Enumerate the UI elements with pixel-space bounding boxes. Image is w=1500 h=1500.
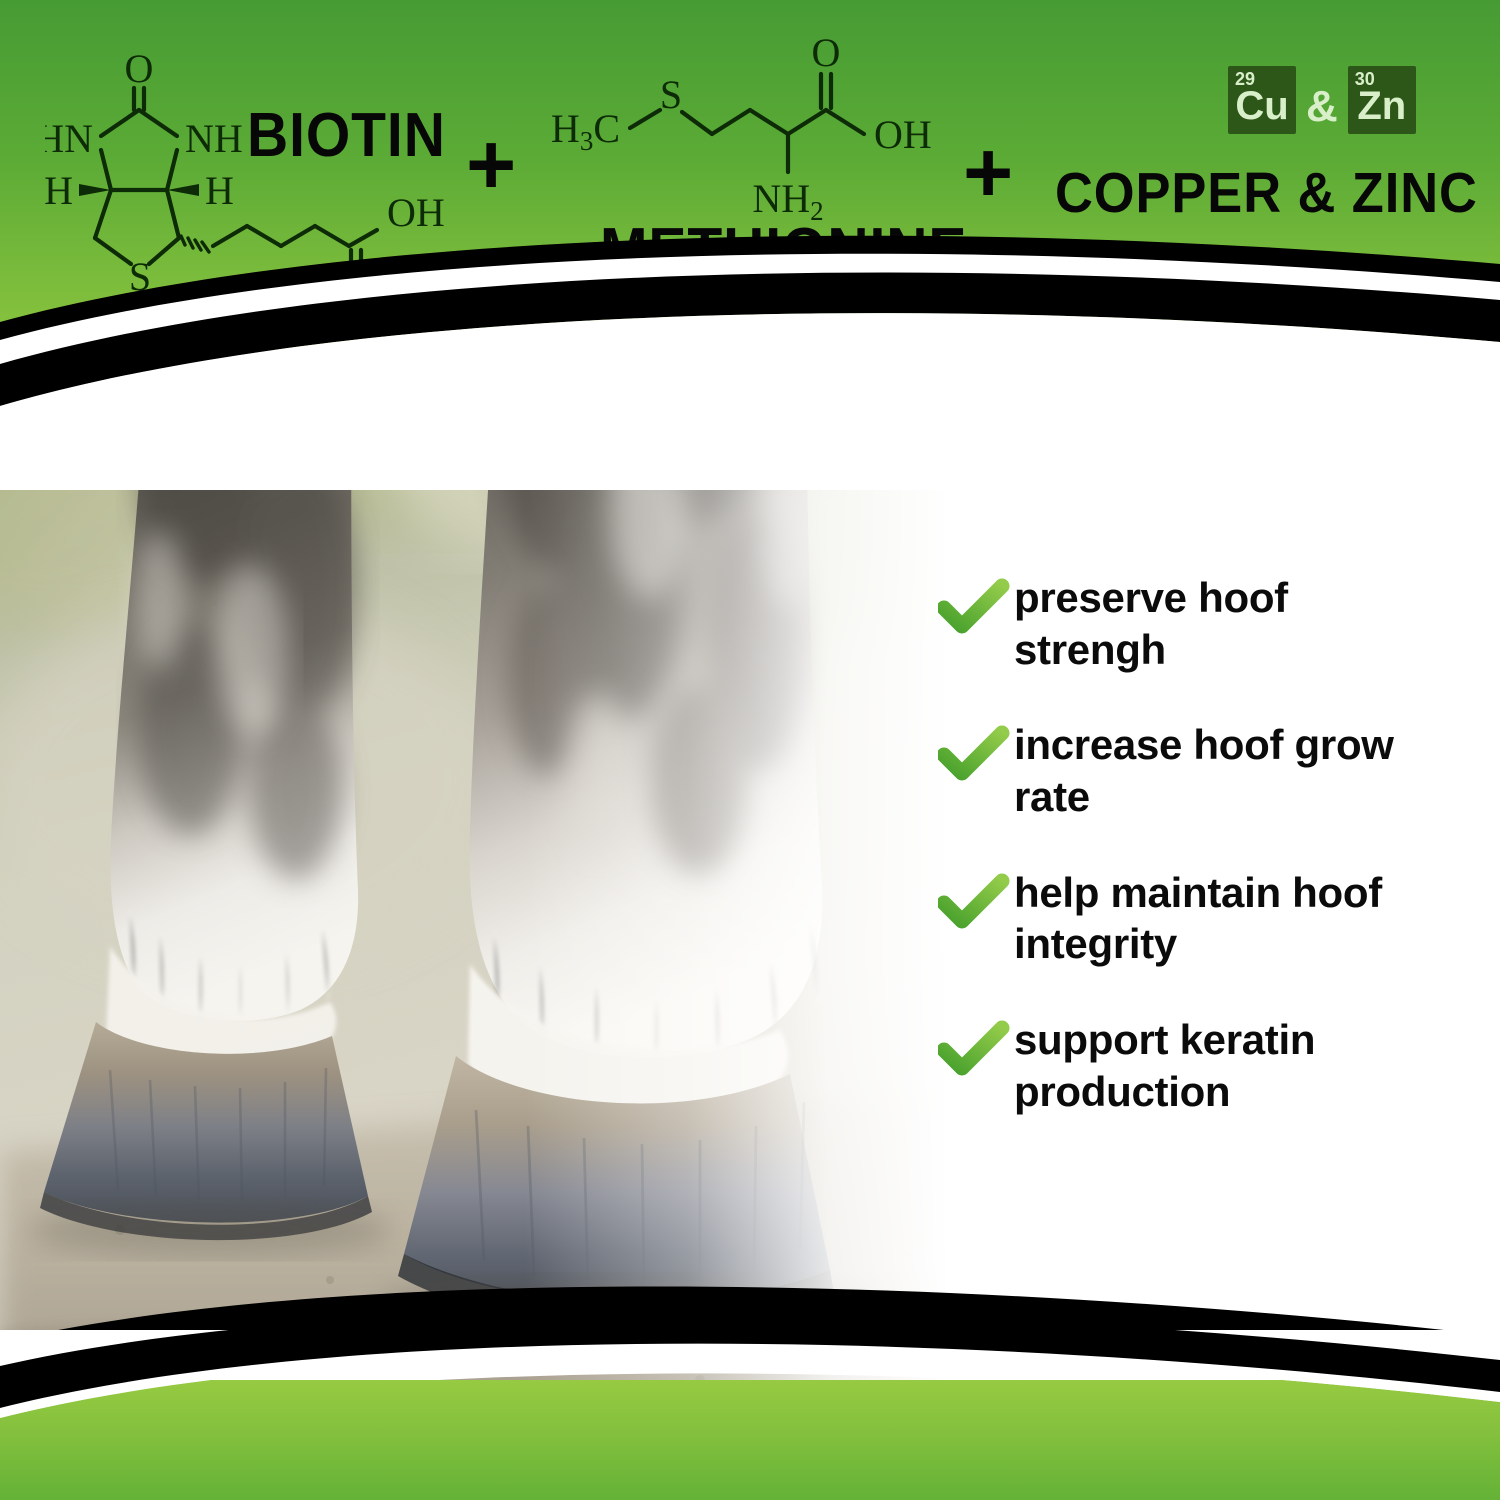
- benefit-label: preserve hoof strengh: [1014, 572, 1444, 675]
- biotin-atom-H-right: H: [205, 168, 234, 213]
- benefit-item-1: preserve hoof strengh: [938, 572, 1478, 675]
- horse-hooves-illustration: [0, 350, 1010, 1410]
- element-tile-zinc: 30 Zn: [1348, 66, 1416, 134]
- check-icon: [938, 867, 1014, 936]
- periodic-tiles-group: 29 Cu & 30 Zn: [1228, 66, 1416, 134]
- biotin-atom-O-bottom: O: [342, 266, 371, 300]
- header-section: O HN NH H H S OH O BIOTIN +: [0, 0, 1500, 400]
- benefit-item-3: help maintain hoof integrity: [938, 867, 1478, 970]
- methionine-atom-S: S: [660, 72, 682, 117]
- biotin-atom-OH: OH: [387, 190, 445, 235]
- check-icon: [938, 1014, 1014, 1083]
- biotin-atom-S: S: [129, 254, 151, 299]
- biotin-atom-O-top: O: [125, 46, 154, 91]
- methionine-atom-O: O: [812, 30, 841, 75]
- footer-green-band: [0, 1380, 1500, 1500]
- benefit-label: support keratin production: [1014, 1014, 1444, 1117]
- product-infographic: O HN NH H H S OH O BIOTIN +: [0, 0, 1500, 1500]
- benefit-label: increase hoof grow rate: [1014, 719, 1444, 822]
- methionine-atom-OH: OH: [874, 112, 932, 157]
- biotin-atom-H-left: H: [45, 168, 73, 213]
- methionine-atom-H3C: H3C: [551, 106, 620, 156]
- ampersand-symbol: &: [1300, 85, 1344, 129]
- benefits-list: preserve hoof strengh increase hoof grow…: [938, 572, 1478, 1117]
- methionine-label: METHIONINE: [600, 215, 967, 286]
- check-icon: [938, 719, 1014, 788]
- benefit-label: help maintain hoof integrity: [1014, 867, 1444, 970]
- element-tile-copper: 29 Cu: [1228, 66, 1296, 134]
- check-icon: [938, 572, 1014, 641]
- methionine-structure-icon: H3C S O OH NH2: [548, 30, 968, 240]
- copper-symbol: Cu: [1228, 86, 1296, 126]
- hoof-photo: [0, 350, 1010, 1410]
- biotin-atom-NH: NH: [185, 116, 243, 161]
- plus-sign-1: +: [466, 122, 516, 208]
- ingredient-row: O HN NH H H S OH O BIOTIN +: [0, 0, 1500, 330]
- plus-sign-2: +: [963, 130, 1013, 216]
- benefit-item-4: support keratin production: [938, 1014, 1478, 1117]
- benefit-item-2: increase hoof grow rate: [938, 719, 1478, 822]
- biotin-label: BIOTIN: [247, 100, 446, 171]
- copper-zinc-label: COPPER & ZINC: [1055, 160, 1478, 226]
- zinc-symbol: Zn: [1348, 86, 1416, 126]
- biotin-atom-HN: HN: [45, 116, 93, 161]
